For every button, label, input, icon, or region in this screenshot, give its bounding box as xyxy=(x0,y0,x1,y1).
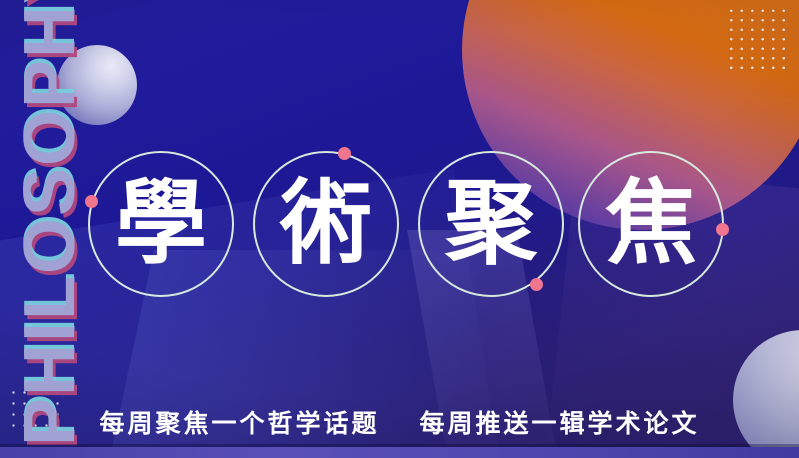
headline-char-glyph-3: 聚 xyxy=(420,153,562,295)
headline-char-circle-4: 焦 xyxy=(578,151,724,297)
tagline-right: 每周推送一辑学术论文 xyxy=(419,410,699,438)
bottom-bar xyxy=(0,447,799,458)
poster-canvas: PHILOSOPHY 學 術 聚 焦 每周聚焦一个哲学话题 每周推送一辑学术论文 xyxy=(0,0,799,458)
vertical-title-philosophy: PHILOSOPHY xyxy=(14,6,86,446)
headline-char-glyph-4: 焦 xyxy=(580,153,722,295)
headline-char-circle-1: 學 xyxy=(88,151,234,297)
tagline-left: 每周聚焦一个哲学话题 xyxy=(100,410,380,438)
orbit-dot-2 xyxy=(338,147,351,160)
vertical-title-container: PHILOSOPHY xyxy=(0,0,96,458)
tagline: 每周聚焦一个哲学话题 每周推送一辑学术论文 xyxy=(0,404,799,440)
orbit-dot-1 xyxy=(85,195,98,208)
orbit-dot-4 xyxy=(716,223,729,236)
headline-char-circle-3: 聚 xyxy=(418,151,564,297)
headline-char-glyph-1: 學 xyxy=(90,153,232,295)
headline-char-glyph-2: 術 xyxy=(255,153,397,295)
headline-char-circle-2: 術 xyxy=(253,151,399,297)
orbit-dot-3 xyxy=(530,278,543,291)
